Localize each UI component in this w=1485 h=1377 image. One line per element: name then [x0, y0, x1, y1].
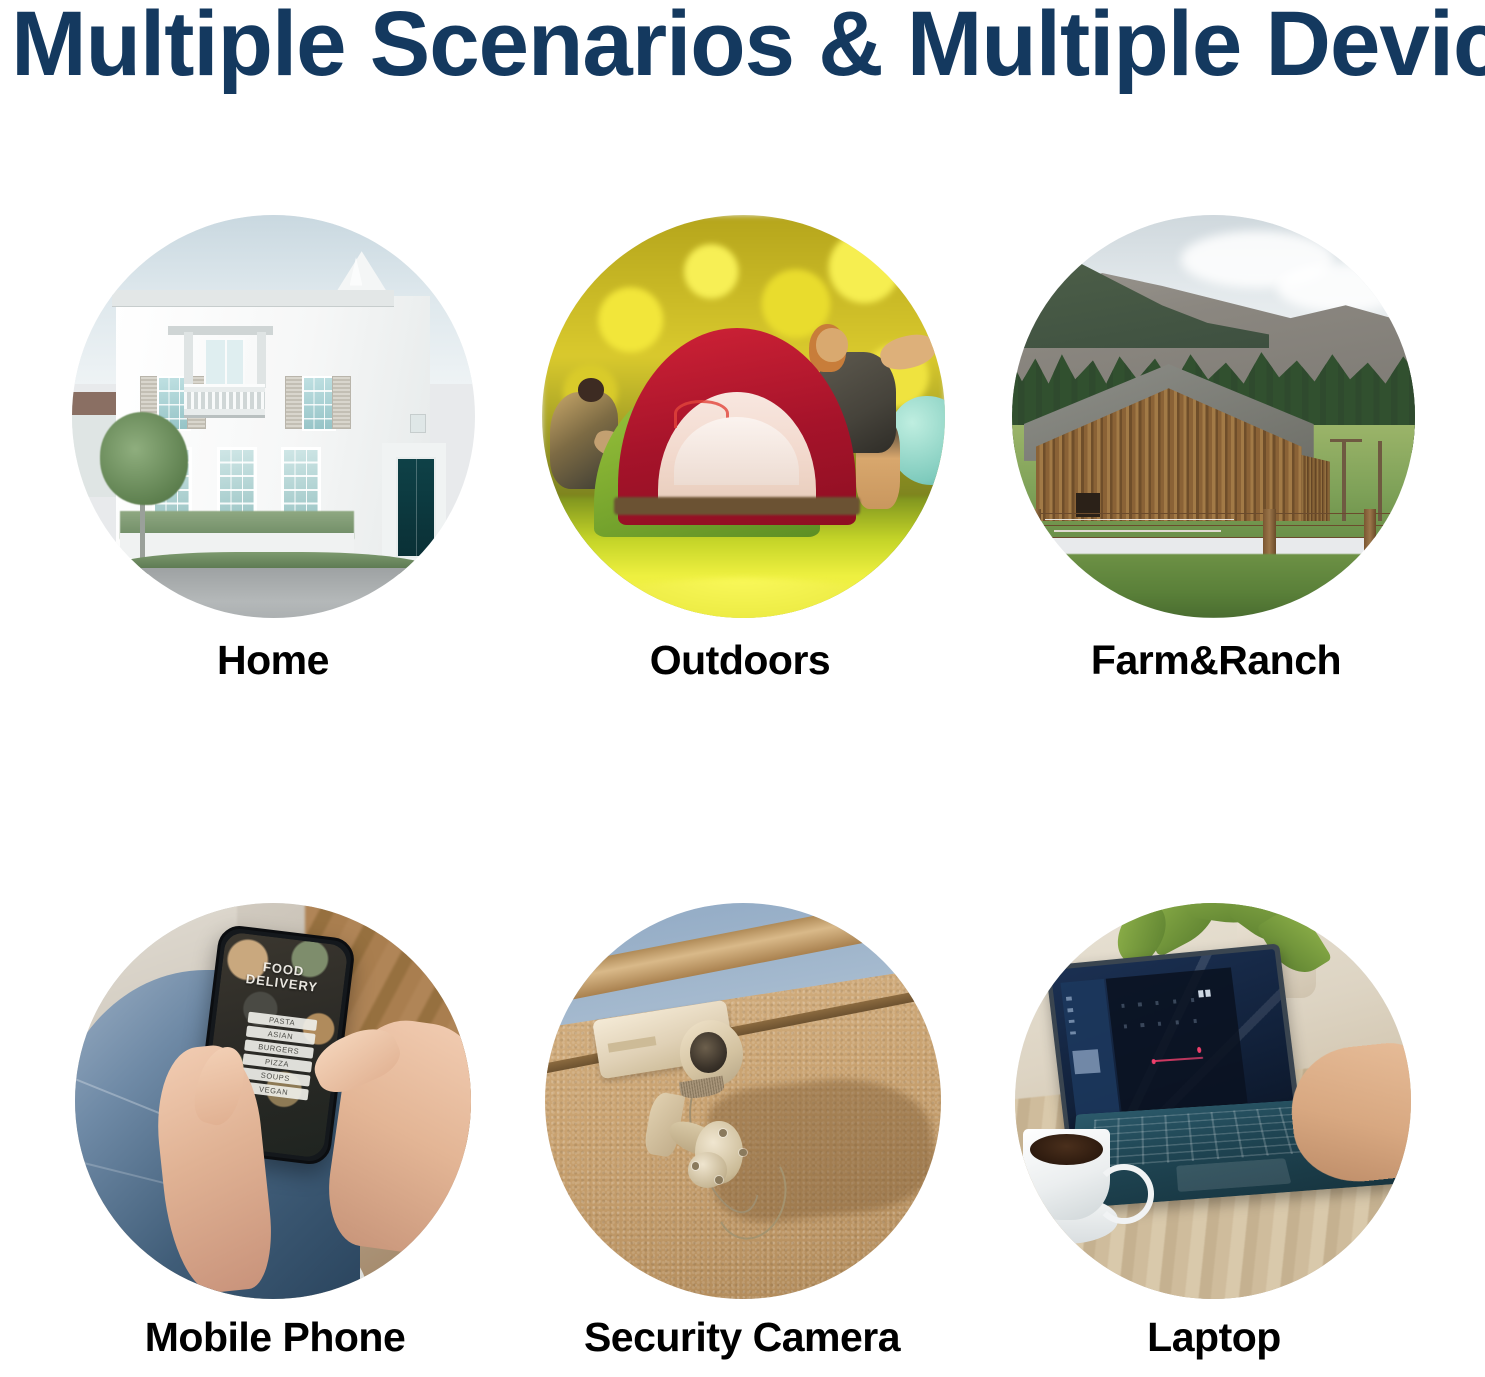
- house-roof-eave: [112, 290, 394, 306]
- rail-fence: [1012, 509, 1415, 557]
- balcony-railing: [184, 384, 265, 418]
- card-laptop[interactable]: Laptop: [978, 903, 1448, 1361]
- tree-crown: [100, 412, 189, 505]
- app-main-panel[interactable]: [1105, 968, 1249, 1124]
- calendar-cell: [1173, 1000, 1177, 1005]
- window-shutter: [332, 376, 351, 428]
- card-caption-mobile-phone: Mobile Phone: [40, 1313, 510, 1361]
- app-title: FOOD DELIVERY: [225, 955, 340, 997]
- card-caption-security-camera: Security Camera: [507, 1313, 977, 1361]
- calendar-cell: [1155, 1001, 1159, 1006]
- white-rail: [1054, 530, 1222, 531]
- scene-outdoors: [542, 215, 945, 618]
- card-home[interactable]: Home: [38, 215, 508, 684]
- sidebar-row: [1065, 997, 1071, 1001]
- calendar-cell: [1123, 1024, 1127, 1029]
- sidebar-row: [1068, 1020, 1074, 1024]
- calendar-cell: [1190, 998, 1194, 1003]
- street: [72, 568, 475, 618]
- trackpad[interactable]: [1176, 1158, 1292, 1192]
- card-image-farm-ranch: [1012, 215, 1415, 618]
- foreground-weeds: [1012, 554, 1415, 618]
- front-door: [396, 457, 436, 558]
- fence-post: [1263, 509, 1276, 557]
- calendar-cell: [1140, 1023, 1144, 1028]
- scene-laptop: [1015, 903, 1411, 1299]
- window-control-tile[interactable]: [1204, 990, 1210, 998]
- fence-rail: [1012, 525, 1415, 526]
- card-caption-farm-ranch: Farm&Ranch: [981, 636, 1451, 684]
- balcony-post: [184, 332, 193, 388]
- card-caption-outdoors: Outdoors: [505, 636, 975, 684]
- mount-screw: [719, 1129, 727, 1137]
- tent-groundsheet: [614, 497, 860, 515]
- scene-farm-ranch: [1012, 215, 1415, 618]
- cup-handle: [1094, 1164, 1154, 1224]
- cloud: [1277, 263, 1406, 311]
- upper-window: [302, 376, 336, 430]
- coffee: [1030, 1134, 1103, 1165]
- card-image-home: [72, 215, 475, 618]
- card-image-mobile-phone: FOOD DELIVERY PASTA ASIAN BURGERS PIZZA …: [75, 903, 471, 1299]
- fence-rail: [1012, 513, 1415, 514]
- camper-right-head: [816, 328, 848, 362]
- scene-security-camera: [545, 903, 941, 1299]
- scene-mobile-phone: FOOD DELIVERY PASTA ASIAN BURGERS PIZZA …: [75, 903, 471, 1299]
- card-image-security-camera: [545, 903, 941, 1299]
- scene-home: [72, 215, 475, 618]
- power-pole-crossarm: [1330, 439, 1362, 442]
- card-image-outdoors: [542, 215, 945, 618]
- sidebar-row: [1069, 1031, 1075, 1035]
- scenario-grid: Home: [0, 0, 1485, 1377]
- calendar-cell: [1121, 1004, 1125, 1009]
- balcony-post: [257, 332, 266, 388]
- fence-rail: [1012, 537, 1415, 538]
- calendar-cell: [1175, 1020, 1179, 1025]
- card-caption-laptop: Laptop: [979, 1313, 1449, 1361]
- card-caption-home: Home: [38, 636, 508, 684]
- calendar-cell: [1158, 1022, 1162, 1027]
- event-bar: [1152, 1057, 1203, 1062]
- mini-calendar: [1072, 1050, 1100, 1075]
- lower-window: [217, 447, 257, 522]
- event-marker: [1196, 1047, 1201, 1053]
- calendar-cell: [1138, 1003, 1142, 1008]
- event-marker: [1151, 1059, 1155, 1065]
- white-rail: [1045, 519, 1234, 520]
- calendar-cell: [1193, 1019, 1197, 1024]
- card-farm-ranch[interactable]: Farm&Ranch: [978, 215, 1448, 684]
- card-security-camera[interactable]: Security Camera: [508, 903, 978, 1361]
- fence-post: [1364, 509, 1377, 557]
- window-control-tile[interactable]: [1197, 990, 1203, 998]
- camera-lens: [690, 1032, 728, 1074]
- lower-window: [281, 447, 321, 522]
- fence-post: [1029, 509, 1042, 557]
- sidebar-row: [1067, 1009, 1073, 1013]
- card-image-laptop: [1015, 903, 1411, 1299]
- card-outdoors[interactable]: Outdoors: [508, 215, 978, 684]
- camper-left-head: [578, 378, 604, 402]
- wall-vent: [410, 414, 426, 432]
- card-mobile-phone[interactable]: FOOD DELIVERY PASTA ASIAN BURGERS PIZZA …: [38, 903, 508, 1361]
